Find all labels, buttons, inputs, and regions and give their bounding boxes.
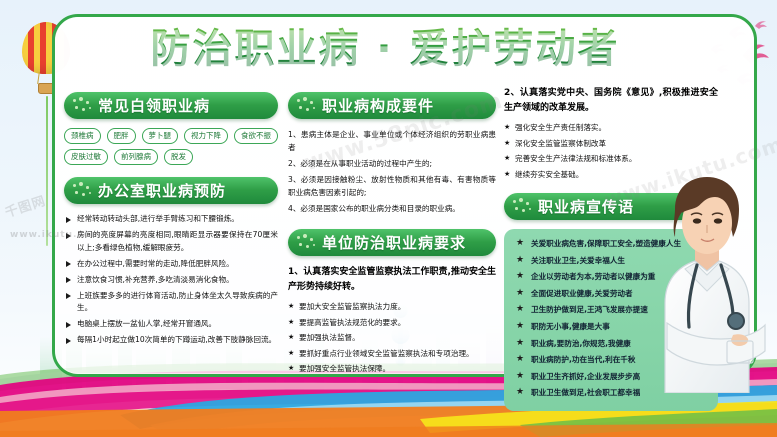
list-item: 注意饮食习惯,补充营养,多吃清淡易消化食物。 [64,274,278,287]
list-item: 2、必须是在从事职业活动的过程中产生的; [288,157,496,170]
watermark: 千图网 [2,190,48,221]
list-item: 3、必须是因接触粉尘、放射性物质和其他有毒、有害物质等职业病危害因素引起的; [288,173,496,199]
list-item: 要提高监管执法规范化的要求。 [288,316,496,330]
left-column: 常见白领职业病 颈椎病 肥胖 萝卜腿 视力下降 食欲不振 皮肤过敏 前列腺病 脱… [64,92,278,350]
section-header-office-disease-prevention: 办公室职业病预防 [64,177,278,204]
poster-root: 防治职业病 · 爱护劳动者 常见白领职业病 颈椎病 肥胖 萝卜腿 视力下降 食欲… [0,0,777,437]
sparkle-dots-icon [72,97,94,114]
list-item: 1、患病主体是企业、事业单位或个体经济组织的劳职业病患者 [288,128,496,154]
disease-tag[interactable]: 视力下降 [184,128,228,144]
elements-list: 1、患病主体是企业、事业单位或个体经济组织的劳职业病患者 2、必须是在从事职业活… [288,128,496,215]
reform-lead: 2、认真落实党中央、国务院《意见》,积极推进安全生产领域的改革发展。 [504,86,718,115]
balloon-string [46,96,48,246]
list-item: 要加大安全监管监察执法力度。 [288,300,496,314]
disease-tag[interactable]: 脱发 [164,149,193,165]
list-item: 房间的亮度屏幕的亮度相同,眼睛距显示器要保持在70厘米以上;多看绿色植物,缓解眼… [64,229,278,254]
section-header-occupational-disease-elements: 职业病构成要件 [288,92,496,119]
list-item: 要加强执法监督。 [288,331,496,345]
list-item: 深化安全监管监察体制改革 [504,137,718,151]
list-item: 每隔1小时起立做10次简单的下蹲运动,改善下肢静脉回流。 [64,334,278,347]
disease-tag[interactable]: 食欲不振 [234,128,278,144]
disease-tag[interactable]: 颈椎病 [64,128,101,144]
sparkle-dots-icon [72,182,94,199]
unit-requirements-lead: 1、认真落实安全监管监察执法工作职责,推动安全生产形势持续好转。 [288,265,496,294]
middle-column: 职业病构成要件 1、患病主体是企业、事业单位或个体经济组织的劳职业病患者 2、必… [288,92,496,378]
list-item: 经常转动转动头部,进行举手臂练习和下腰锻炼。 [64,213,278,226]
list-item: 4、必须是国家公布的职业病分类和目录的职业病。 [288,202,496,215]
disease-tag[interactable]: 萝卜腿 [142,128,179,144]
page-title: 防治职业病 · 爱护劳动者 [150,26,620,72]
sparkle-dots-icon [296,97,318,114]
list-item: 完善安全生产法律法规和标准体系。 [504,152,718,166]
section-header-common-white-collar-diseases: 常见白领职业病 [64,92,278,119]
sparkle-dots-icon [296,234,318,251]
list-item: 电脑桌上摆放一盆仙人掌,经常开窗通风。 [64,318,278,331]
prevention-list: 经常转动转动头部,进行举手臂练习和下腰锻炼。 房间的亮度屏幕的亮度相同,眼睛距显… [64,213,278,347]
disease-tag[interactable]: 前列腺病 [114,149,158,165]
female-doctor-illustration [641,173,773,393]
list-item: 在办公过程中,需要时常的走动,降低肥胖风险。 [64,258,278,271]
reform-list: 强化安全生产责任制落实。 深化安全监管监察体制改革 完善安全生产法律法规和标准体… [504,121,718,181]
list-item: 要加强安全监管执法保障。 [288,362,496,376]
list-item: 强化安全生产责任制落实。 [504,121,718,135]
list-item: 上班族要多多的进行体育活动,防止身体坐太久导致疾病的产生。 [64,290,278,315]
disease-tag[interactable]: 肥胖 [107,128,136,144]
disease-tag[interactable]: 皮肤过敏 [64,149,108,165]
section-header-unit-requirements: 单位防治职业病要求 [288,229,496,256]
sparkle-dots-icon [512,198,534,215]
unit-requirements-list: 要加大安全监管监察执法力度。 要提高监管执法规范化的要求。 要加强执法监督。 要… [288,300,496,376]
list-item: 要抓好重点行业领域安全监管监察执法和专项治理。 [288,347,496,361]
disease-tag-list: 颈椎病 肥胖 萝卜腿 视力下降 食欲不振 皮肤过敏 前列腺病 脱发 [64,128,278,165]
